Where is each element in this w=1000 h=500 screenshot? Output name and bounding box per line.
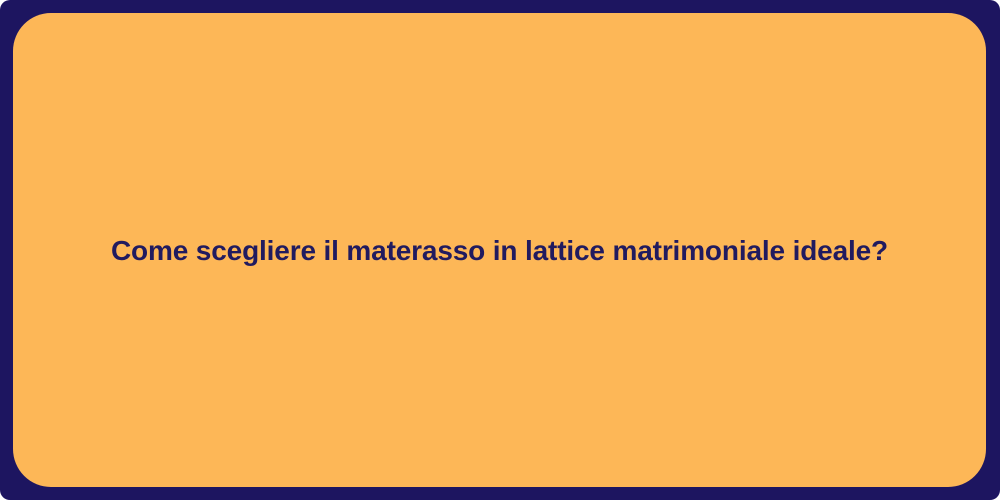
page-title: Come scegliere il materasso in lattice m… — [71, 233, 928, 268]
banner-content-panel: Come scegliere il materasso in lattice m… — [13, 13, 986, 487]
banner-card: Come scegliere il materasso in lattice m… — [0, 0, 1000, 500]
